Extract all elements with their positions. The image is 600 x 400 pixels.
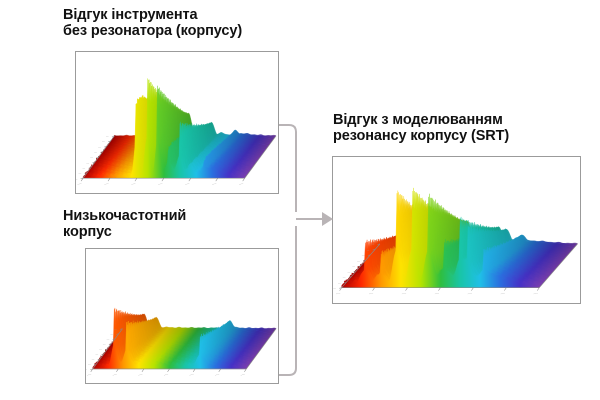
svg-text:––: –– — [343, 276, 346, 279]
svg-text:––: –– — [88, 363, 91, 366]
svg-text:––: –– — [106, 135, 109, 138]
caption-low-frequency-body: Низькочастотний корпус — [63, 208, 186, 240]
svg-text:–––: ––– — [212, 182, 217, 186]
svg-text:–––: ––– — [185, 182, 190, 186]
svg-text:–––: ––– — [77, 182, 82, 186]
svg-text:–––: ––– — [164, 373, 169, 377]
svg-text:–––: ––– — [468, 292, 473, 296]
svg-text:–––: ––– — [435, 292, 440, 296]
svg-text:––: –– — [94, 151, 97, 154]
svg-text:––: –– — [338, 282, 341, 285]
svg-text:––: –– — [357, 260, 360, 263]
svg-text:––: –– — [102, 141, 105, 144]
waterfall-plot-svg: ––––––––––––––––––––––––––––––––––––––– — [86, 249, 278, 383]
svg-text:––: –– — [90, 157, 93, 160]
svg-text:–––: ––– — [87, 373, 92, 377]
svg-text:–––: ––– — [239, 182, 244, 186]
svg-text:––: –– — [79, 172, 82, 175]
svg-text:–––: ––– — [158, 182, 163, 186]
svg-text:–––: ––– — [215, 373, 220, 377]
waterfall-plot-svg: ––––––––––––––––––––––––––––––––––––––– — [333, 157, 580, 303]
svg-text:–––: ––– — [533, 292, 538, 296]
svg-text:–––: ––– — [112, 373, 117, 377]
svg-text:–––: ––– — [131, 182, 136, 186]
svg-text:––: –– — [348, 271, 351, 274]
svg-text:–––: ––– — [138, 373, 143, 377]
svg-text:–––: ––– — [500, 292, 505, 296]
svg-text:––: –– — [95, 353, 98, 356]
svg-text:–––: ––– — [369, 292, 374, 296]
svg-text:––: –– — [98, 146, 101, 149]
chart-srt-result: ––––––––––––––––––––––––––––––––––––––– — [333, 157, 580, 303]
chart-instrument-no-body: ––––––––––––––––––––––––––––––––––––––– — [76, 52, 278, 193]
svg-text:–––: ––– — [104, 182, 109, 186]
svg-text:–––: ––– — [402, 292, 407, 296]
panel-srt-result: ––––––––––––––––––––––––––––––––––––––– — [332, 156, 581, 304]
panel-instrument-no-body: ––––––––––––––––––––––––––––––––––––––– — [75, 51, 279, 194]
svg-text:–––: ––– — [189, 373, 194, 377]
svg-text:––: –– — [86, 162, 89, 165]
svg-text:––: –– — [92, 358, 95, 361]
svg-text:––: –– — [103, 343, 106, 346]
svg-text:––: –– — [107, 338, 110, 341]
svg-text:–––: ––– — [336, 292, 341, 296]
svg-text:––: –– — [333, 287, 336, 290]
svg-text:––: –– — [99, 348, 102, 351]
chart-low-frequency-body: ––––––––––––––––––––––––––––––––––––––– — [86, 249, 278, 383]
panel-low-frequency-body: ––––––––––––––––––––––––––––––––––––––– — [85, 248, 279, 384]
svg-text:––: –– — [110, 333, 113, 336]
waterfall-plot-svg: ––––––––––––––––––––––––––––––––––––––– — [76, 52, 278, 193]
svg-text:––: –– — [76, 178, 78, 181]
caption-instrument-no-body: Відгук інструмента без резонатора (корпу… — [63, 7, 242, 39]
svg-text:––: –– — [86, 369, 88, 372]
svg-text:––: –– — [82, 167, 85, 170]
bracket-lower-arm — [279, 226, 296, 375]
caption-srt-result: Відгук з моделюванням резонансу корпусу … — [333, 112, 509, 144]
bracket-upper-arm — [279, 125, 296, 212]
svg-text:–––: ––– — [240, 373, 245, 377]
svg-text:––: –– — [352, 265, 355, 268]
